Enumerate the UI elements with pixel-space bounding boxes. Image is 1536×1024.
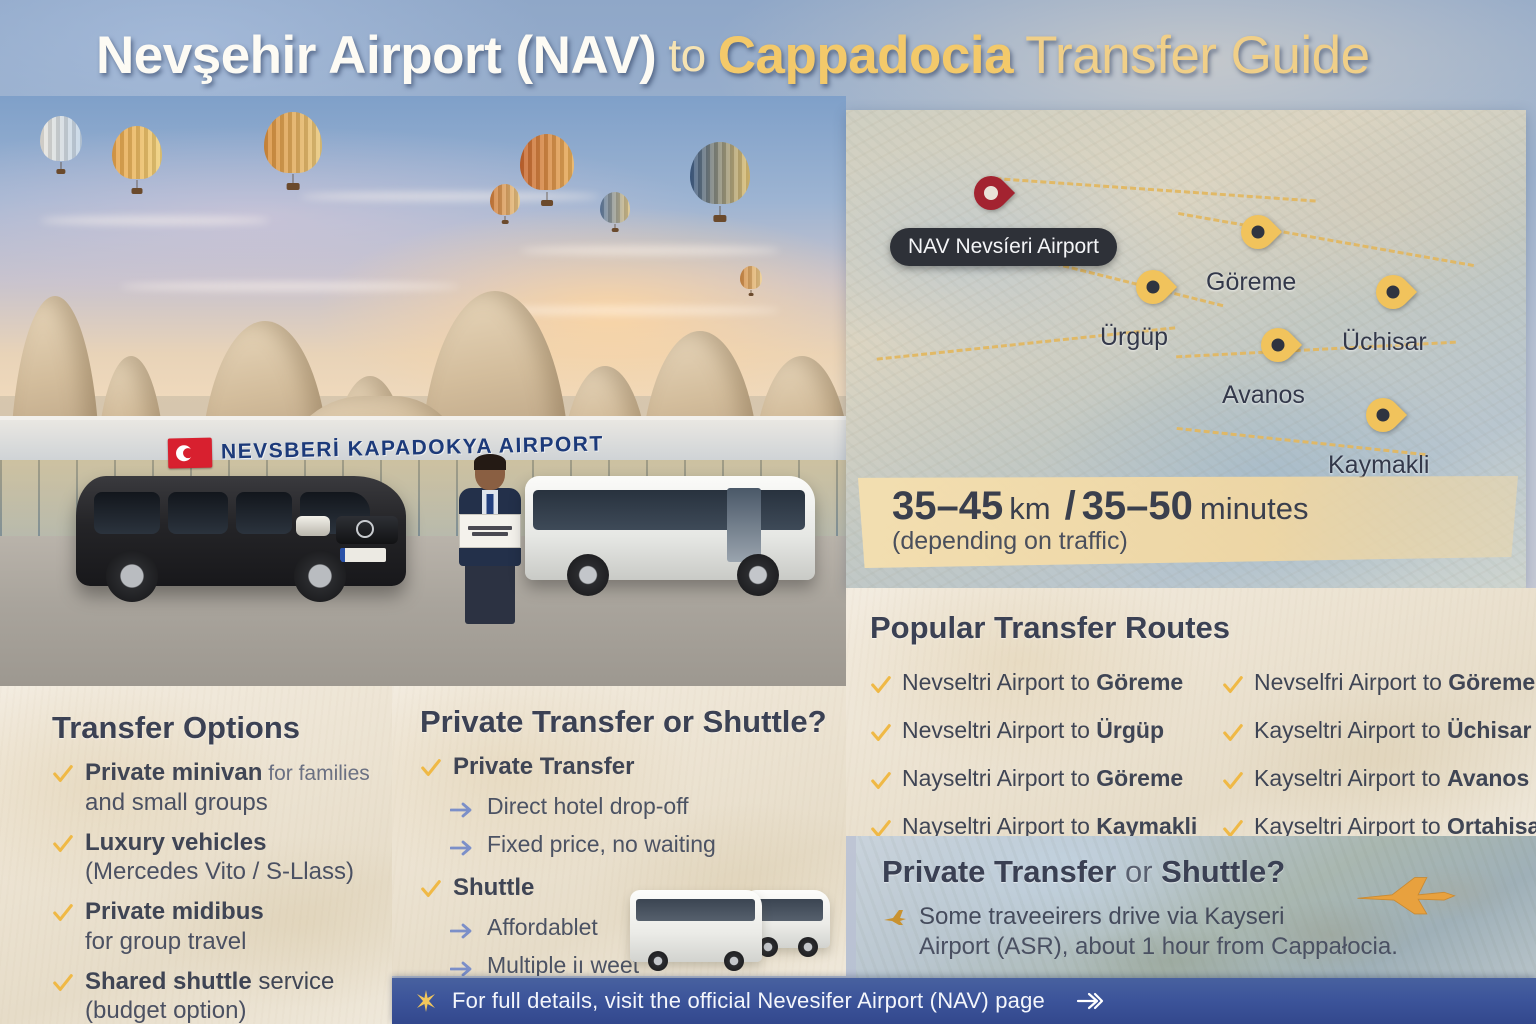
- option-strong: Luxury vehicles: [85, 829, 266, 856]
- group-heading: Private Transfer: [453, 753, 634, 780]
- title-part-guide: Transfer Guide: [1025, 25, 1370, 86]
- list-item: Fixed price, no waiting: [420, 830, 830, 859]
- map-label-goreme: Göreme: [1206, 268, 1296, 297]
- check-icon: [870, 722, 892, 744]
- hero-photo: NEVSBERİ KAPADOKYA AIRPORT: [0, 96, 846, 686]
- list-item: Private Transfer: [420, 752, 830, 782]
- group-point: Fixed price, no waiting: [487, 830, 716, 859]
- map-label-urgup: Ürgüp: [1100, 323, 1168, 352]
- kayseri-title-strong1: Private Transfer: [882, 854, 1116, 889]
- route-from: Nayseltri Airport to: [902, 813, 1096, 836]
- kayseri-line1: Some traveeirers drive via Kayseri: [919, 903, 1284, 930]
- group-heading: Shuttle: [453, 874, 534, 901]
- option-light: for families: [262, 762, 369, 785]
- route-to: Avanos: [1447, 765, 1529, 791]
- option-sub: and small groups: [85, 788, 370, 818]
- route-to: Kaymakli: [1096, 813, 1197, 836]
- title-part-cappadocia: Cappadocia: [718, 25, 1013, 86]
- check-icon: [52, 972, 74, 994]
- map-label-avanos: Avanos: [1222, 381, 1305, 410]
- hot-air-balloon-icon: [264, 112, 322, 190]
- kayseri-note-panel: Private Transfer or Shuttle? Some travee…: [856, 836, 1536, 978]
- map-pin-uchisar[interactable]: [1376, 275, 1410, 321]
- option-sub: for group travel: [85, 927, 264, 957]
- hot-air-balloon-icon: [600, 192, 630, 232]
- check-icon: [870, 818, 892, 837]
- arrow-right-icon: [450, 801, 476, 819]
- distance-summary: 35–45km/35–50minutes: [892, 484, 1518, 529]
- arrow-right-icon: [450, 922, 476, 940]
- map-pin-kaymakli[interactable]: [1366, 398, 1400, 444]
- route-to: Ürgüp: [1096, 717, 1164, 743]
- map-label-kaymakli: Kaymakli: [1328, 451, 1429, 480]
- route-from: Kayseltri Airport to: [1254, 765, 1447, 791]
- check-icon: [52, 763, 74, 785]
- duration-value: 35–50: [1082, 484, 1193, 528]
- shuttle-bus-icon: [525, 466, 815, 598]
- footer-cta[interactable]: For full details, visit the official Nev…: [392, 978, 1536, 1024]
- small-plane-icon: [882, 908, 908, 926]
- hot-air-balloon-icon: [740, 266, 762, 296]
- map-pin-avanos[interactable]: [1261, 328, 1295, 374]
- map-pin-red-icon[interactable]: [974, 176, 1008, 222]
- option-sub: (budget option): [85, 996, 334, 1024]
- route-from: Nevselfri Airport to: [1254, 669, 1448, 695]
- route-from: Nayseltri Airport to: [902, 765, 1096, 791]
- route-item[interactable]: Nevselfri Airport to Göreme: [1222, 658, 1536, 706]
- route-item[interactable]: Kayseltri Airport to Ortahisar: [1222, 802, 1536, 836]
- name-board: [459, 514, 521, 548]
- check-icon: [420, 757, 442, 779]
- list-item: Direct hotel drop-off: [420, 792, 830, 821]
- title-word-to: to: [668, 28, 705, 82]
- route-to: Göreme: [1448, 669, 1535, 695]
- route-item[interactable]: Kayseltri Airport to Avanos: [1222, 754, 1536, 802]
- option-light: service: [252, 968, 335, 995]
- double-chevron-right-icon[interactable]: [1075, 991, 1105, 1011]
- check-icon: [52, 902, 74, 924]
- route-to: Ortahisar: [1447, 813, 1536, 836]
- route-to: Üchisar: [1447, 717, 1531, 743]
- transfer-options-title: Transfer Options: [52, 710, 374, 746]
- arrow-right-icon: [450, 839, 476, 857]
- route-item[interactable]: Nayseltri Airport to Göreme: [870, 754, 1222, 802]
- routes-grid: Nevseltri Airport to Göreme Nevselfri Ai…: [870, 658, 1526, 836]
- kayseri-title-strong2: Shuttle?: [1161, 854, 1285, 889]
- route-from: Kayseltri Airport to: [1254, 717, 1447, 743]
- hot-air-balloon-icon: [520, 134, 574, 206]
- route-item[interactable]: Nevseltri Airport to Ürgüp: [870, 706, 1222, 754]
- route-item[interactable]: Nayseltri Airport to Kaymakli: [870, 802, 1222, 836]
- list-item: Luxury vehicles(Mercedes Vito / S-Llass): [52, 828, 374, 888]
- duration-unit: minutes: [1200, 491, 1309, 526]
- mercedes-van-icon: [76, 458, 406, 608]
- group-point: Affordablet: [487, 913, 598, 942]
- route-to: Göreme: [1096, 765, 1183, 791]
- driver-with-nameboard-icon: [452, 456, 528, 624]
- option-strong: Private midibus: [85, 898, 264, 925]
- distance-note: (depending on traffic): [892, 527, 1518, 556]
- kayseri-line2: Airport (ASR), about 1 hour from Cappało…: [919, 932, 1398, 962]
- option-strong: Private minivan: [85, 759, 262, 786]
- map-pin-urgup[interactable]: [1136, 270, 1170, 316]
- hot-air-balloon-icon: [490, 184, 520, 224]
- infographic-canvas: Nevşehir Airport (NAV) to Cappadocia Tra…: [0, 0, 1536, 1024]
- group-point: Multiple iı weet: [487, 952, 639, 976]
- check-icon: [870, 674, 892, 696]
- check-icon: [420, 878, 442, 900]
- check-icon: [1222, 674, 1244, 696]
- hot-air-balloon-icon: [690, 142, 750, 222]
- distance-km: 35–45: [892, 484, 1003, 528]
- kayseri-title-soft: or: [1116, 854, 1161, 889]
- check-icon: [870, 770, 892, 792]
- check-icon: [1222, 770, 1244, 792]
- check-icon: [52, 833, 74, 855]
- map-label-uchisar: Üchisar: [1342, 328, 1427, 357]
- list-item: Private midibusfor group travel: [52, 897, 374, 957]
- title-part-airport: Nevşehir Airport (NAV): [96, 25, 656, 86]
- shuttle-panel-title: Private Transfer or Shuttle?: [420, 704, 830, 740]
- page-title: Nevşehir Airport (NAV) to Cappadocia Tra…: [0, 16, 1536, 94]
- kayseri-note: Some traveeirers drive via Kayseri Airpo…: [882, 902, 1536, 962]
- route-from: Nevseltri Airport to: [902, 717, 1096, 743]
- check-icon: [1222, 722, 1244, 744]
- distance-unit: km: [1009, 491, 1050, 526]
- check-icon: [1222, 818, 1244, 837]
- map-origin-label: NAV Nevsíeri Airport: [890, 228, 1117, 266]
- group-point: Direct hotel drop-off: [487, 792, 689, 821]
- route-from: Nevseltri Airport to: [902, 669, 1096, 695]
- mini-shuttle-bus-icon: [630, 864, 840, 970]
- kayseri-title: Private Transfer or Shuttle?: [882, 854, 1536, 890]
- map-pin-goreme[interactable]: [1241, 215, 1275, 261]
- popular-routes-panel: Popular Transfer Routes Nevseltri Airpor…: [846, 588, 1536, 836]
- transfer-options-panel: Transfer Options Private minivan for fam…: [0, 686, 392, 1024]
- star-icon: [414, 989, 438, 1013]
- footer-text: For full details, visit the official Nev…: [452, 988, 1045, 1014]
- shuttle-comparison-panel: Private Transfer or Shuttle? Private Tra…: [392, 686, 846, 976]
- routes-title: Popular Transfer Routes: [870, 610, 1526, 646]
- hot-air-balloon-icon: [40, 116, 82, 174]
- list-item: Shared shuttle service(budget option): [52, 967, 374, 1024]
- route-item[interactable]: Kayseltri Airport to Üchisar: [1222, 706, 1536, 754]
- route-from: Kayseltri Airport to: [1254, 813, 1447, 836]
- option-strong: Shared shuttle: [85, 968, 252, 995]
- route-to: Göreme: [1096, 669, 1183, 695]
- hot-air-balloon-icon: [112, 126, 162, 194]
- option-sub: (Mercedes Vito / S-Llass): [85, 857, 354, 887]
- distance-banner: 35–45km/35–50minutes (depending on traff…: [858, 476, 1518, 568]
- route-item[interactable]: Nevseltri Airport to Göreme: [870, 658, 1222, 706]
- arrow-right-icon: [450, 960, 476, 976]
- list-item: Private minivan for familiesand small gr…: [52, 758, 374, 818]
